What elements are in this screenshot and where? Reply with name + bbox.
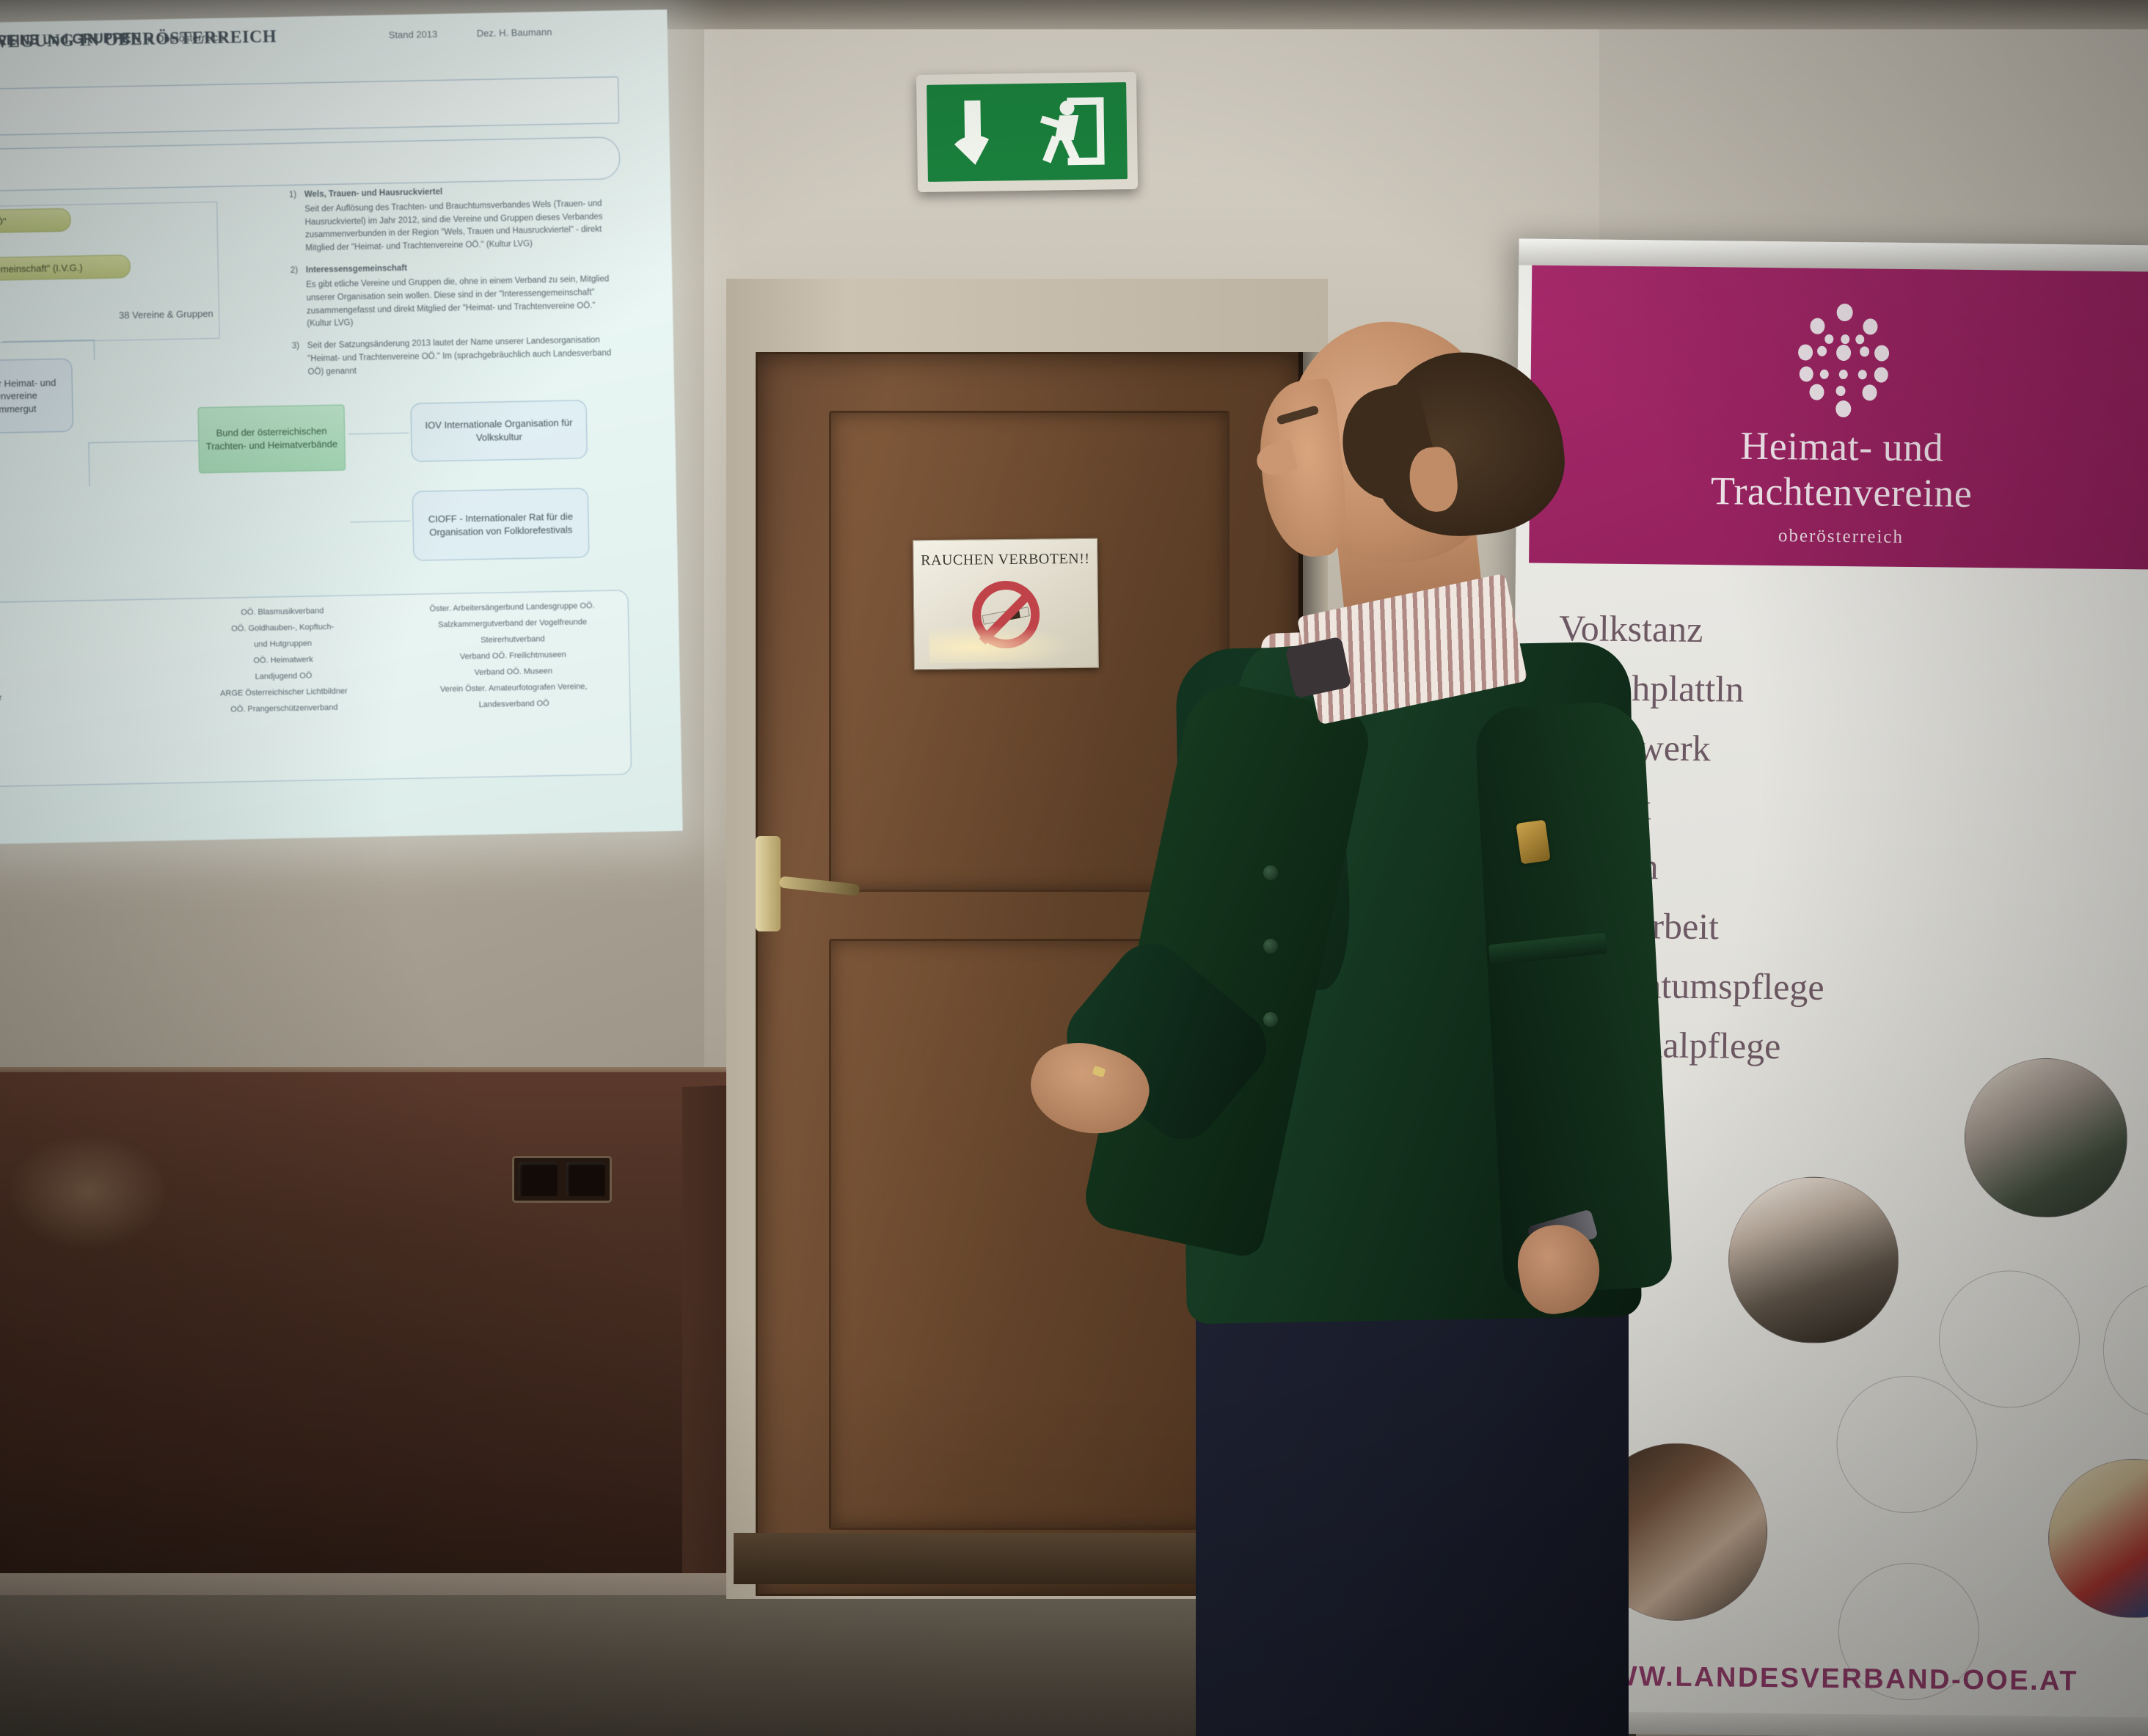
slide-bullet-1-head: Wels, Trauen- und Hausruckviertel bbox=[304, 183, 612, 202]
presenter-trousers bbox=[1196, 1261, 1629, 1736]
flowchart-box-iov: IOV Internationale Organisation für Volk… bbox=[410, 400, 587, 462]
org-item: OÖ. Prangerschützenverband bbox=[173, 698, 396, 719]
slide-bullet-2-num: 2) bbox=[291, 265, 302, 332]
flowchart-connector-5 bbox=[348, 433, 409, 435]
slide-bullet-1-text: Wels, Trauen- und Hausruckviertel Seit d… bbox=[304, 183, 613, 255]
slide-subtitle-box bbox=[0, 136, 621, 191]
flowchart-box-verband-salzkammergut: Verband der Heimat- und Trachtenvereine … bbox=[0, 359, 73, 435]
slide-title-stand: Stand 2013 bbox=[389, 29, 438, 40]
photo-scene: EWEGUNG IN OBERÖSTERREICH Stand 2013 Dez… bbox=[0, 0, 2148, 1736]
org-item: Landesverband OÖ bbox=[403, 694, 626, 714]
presenter bbox=[976, 308, 1746, 1736]
circle-empty-2 bbox=[2103, 1283, 2148, 1418]
circle-bw-dancers bbox=[1964, 1058, 2128, 1218]
running-man-icon bbox=[1040, 98, 1104, 166]
presenter-badge-pin bbox=[1516, 819, 1550, 864]
slide-bullet-2-text: Interessensgemeinschaft Es gibt etliche … bbox=[306, 259, 615, 332]
slide-title-box bbox=[0, 76, 619, 136]
flowchart-connector-4 bbox=[88, 440, 198, 443]
slide-bullet-1-num: 1) bbox=[289, 189, 301, 256]
slide-title-author: Dez. H. Baumann bbox=[477, 26, 552, 39]
slide-org-column-1: ...ein ...hen in OÖ ...werk ...ungengard… bbox=[0, 606, 166, 739]
slide-subtitle-strong: VEREINE und GRUPPEN bbox=[0, 31, 142, 49]
flowchart-box-cioff: CIOFF - Internationaler Rat für die Orga… bbox=[412, 488, 590, 561]
emergency-exit-sign bbox=[916, 72, 1138, 192]
slide-bullet-3: 3) Seit der Satzungsänderung 2013 lautet… bbox=[292, 334, 615, 380]
dot-cluster-logo-icon bbox=[1787, 303, 1899, 414]
socket-left bbox=[519, 1162, 558, 1196]
circle-children-tracht bbox=[1728, 1176, 1899, 1344]
flowchart-connector-6 bbox=[350, 521, 410, 523]
circle-empty-3 bbox=[1836, 1375, 1979, 1514]
arrow-down-icon bbox=[950, 100, 995, 166]
flowchart-connector-1 bbox=[94, 340, 95, 360]
slide-bullet-2-head: Interessensgemeinschaft bbox=[306, 259, 613, 278]
socket-right bbox=[566, 1162, 605, 1196]
slide-bullet-3-body: Seit der Satzungsänderung 2013 lautet de… bbox=[307, 336, 612, 376]
slide-org-columns: ...ein ...hen in OÖ ...werk ...ungengard… bbox=[0, 597, 626, 739]
presenter-jacket-button bbox=[1263, 1012, 1278, 1027]
slide-org-column-3: Öster. Arbeitersängerbund Landesgruppe O… bbox=[401, 597, 626, 730]
slide-bullet-1-body: Seit der Auflösung des Trachten- und Bra… bbox=[304, 199, 602, 253]
flowchart-box-bund: Bund der österreichischen Trachten- und … bbox=[197, 405, 346, 474]
door-handle-plate[interactable] bbox=[756, 836, 781, 931]
slide-org-column-2: OÖ. Blasmusikverband OÖ. Goldhauben-, Ko… bbox=[171, 601, 396, 735]
power-socket-icon[interactable] bbox=[512, 1156, 612, 1203]
presenter-jacket-button bbox=[1263, 939, 1278, 953]
slide-bullet-3-text: Seit der Satzungsänderung 2013 lautet de… bbox=[307, 334, 615, 379]
slide-bullet-list: 1) Wels, Trauen- und Hausruckviertel Sei… bbox=[289, 183, 615, 388]
exit-sign-face bbox=[927, 82, 1128, 182]
presenter-right-sleeve bbox=[1474, 700, 1673, 1295]
slide-bullet-2: 2) Interessensgemeinschaft Es gibt etlic… bbox=[291, 259, 615, 332]
slide-bullet-3-num: 3) bbox=[292, 340, 303, 380]
flowchart-count-label: 38 Vereine & Gruppen bbox=[119, 308, 213, 321]
wainscot-panel bbox=[0, 1072, 726, 1600]
flowchart-pill-tvoo: "TVOÖ" bbox=[0, 208, 71, 235]
presenter-jacket-button bbox=[1263, 865, 1278, 880]
slide-bullet-2-body: Es gibt etliche Vereine und Gruppen die,… bbox=[306, 274, 609, 328]
slide-bullet-1: 1) Wels, Trauen- und Hausruckviertel Sei… bbox=[289, 183, 613, 255]
flowchart-connector-3 bbox=[88, 442, 89, 486]
slide-subtitle-rest: in Oberösterreich bbox=[145, 32, 224, 45]
projected-slide: EWEGUNG IN OBERÖSTERREICH Stand 2013 Dez… bbox=[0, 10, 683, 844]
circle-traditional-shoes bbox=[2047, 1458, 2148, 1619]
flowchart-pill-ivg: "Interessengemeinschaft" (I.V.G.) bbox=[0, 254, 131, 282]
circle-empty-1 bbox=[1938, 1270, 2081, 1408]
